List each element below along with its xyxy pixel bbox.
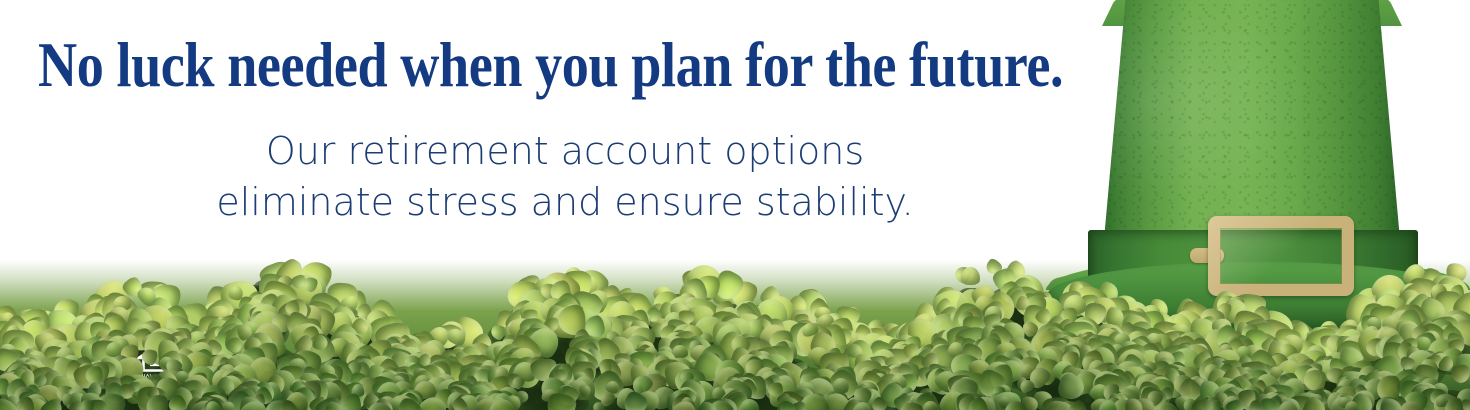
subheading-line-1: Our retirement account options bbox=[266, 129, 864, 173]
promo-banner: No luck needed when you plan for the fut… bbox=[0, 0, 1470, 410]
hat-buckle-highlight bbox=[1208, 216, 1354, 296]
page-title: No luck needed when you plan for the fut… bbox=[38, 34, 1063, 97]
hat-buckle bbox=[1208, 216, 1354, 296]
clover-leaflet bbox=[961, 267, 980, 285]
subheading-line-2: eliminate stress and ensure stability. bbox=[200, 177, 930, 228]
subheading: Our retirement account options eliminate… bbox=[200, 126, 930, 227]
